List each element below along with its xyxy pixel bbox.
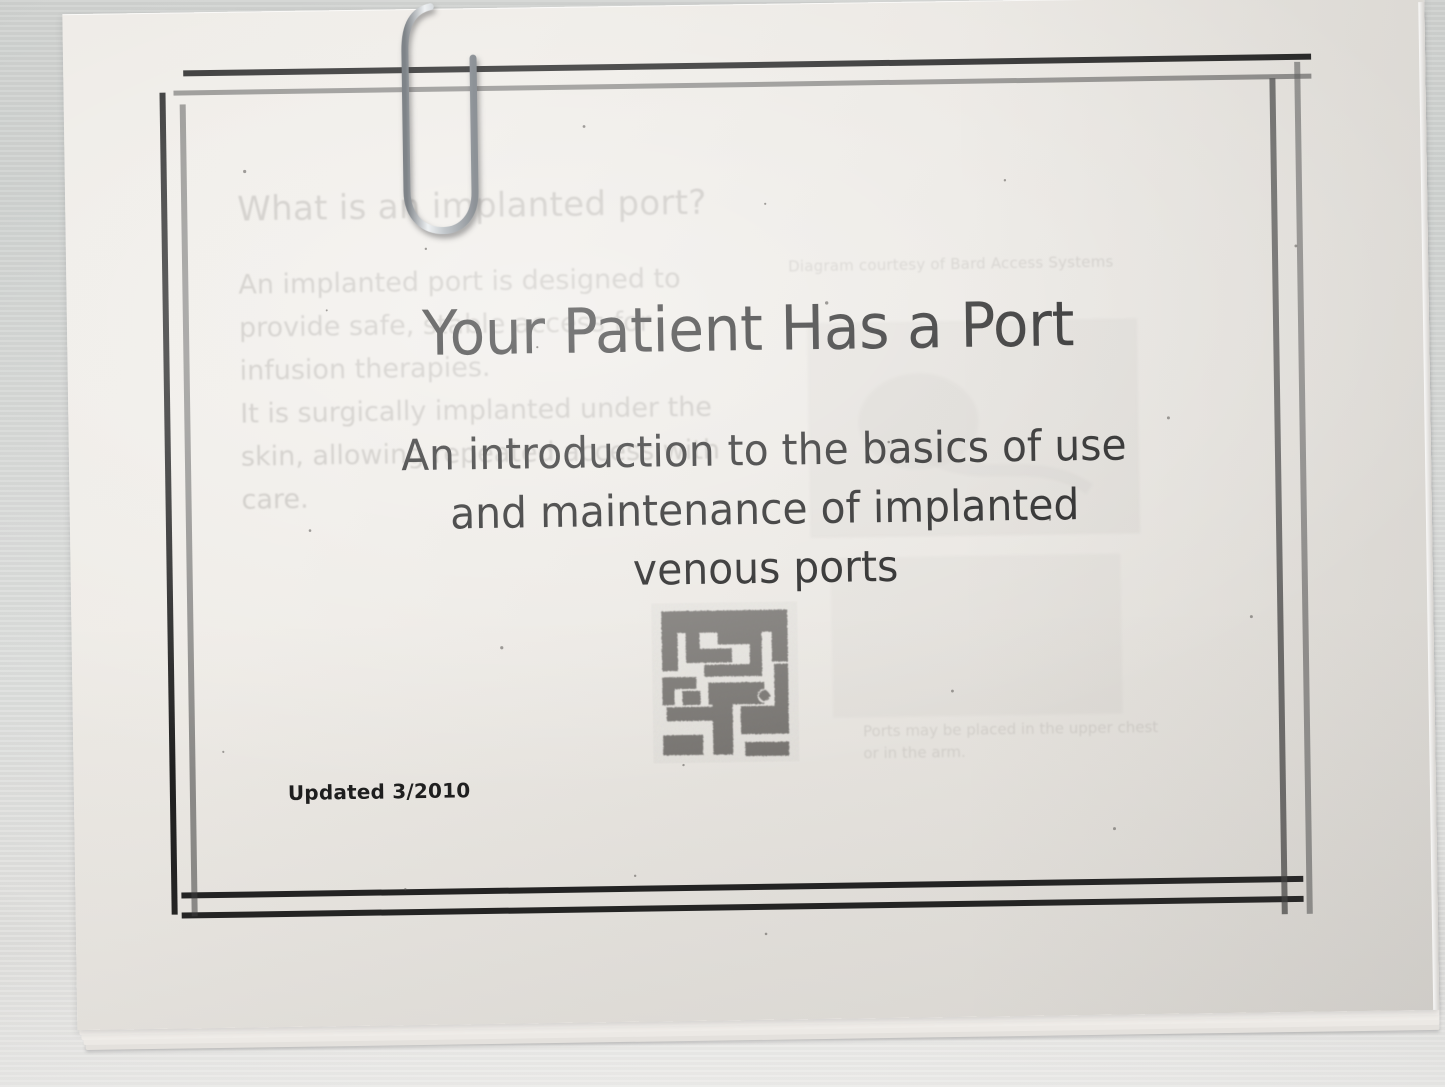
frame-rule-bottom-inner — [182, 896, 1304, 919]
frame-rule-top-inner — [173, 74, 1311, 96]
frame-rule-right-inner — [1269, 78, 1287, 914]
paper-stack: What is an implanted port? An implanted … — [62, 0, 1445, 1060]
photo-canvas: What is an implanted port? An implanted … — [0, 0, 1445, 1087]
frame-rule-bottom-outer — [181, 876, 1303, 899]
paperclip-icon — [360, 0, 494, 244]
cover-page: What is an implanted port? An implanted … — [62, 0, 1439, 1030]
frame-rule-left-inner — [180, 104, 198, 916]
page-border-frame — [159, 54, 1324, 924]
frame-rule-right-outer — [1294, 62, 1313, 914]
frame-rule-top-outer — [183, 54, 1311, 77]
frame-rule-left-outer — [159, 93, 177, 915]
